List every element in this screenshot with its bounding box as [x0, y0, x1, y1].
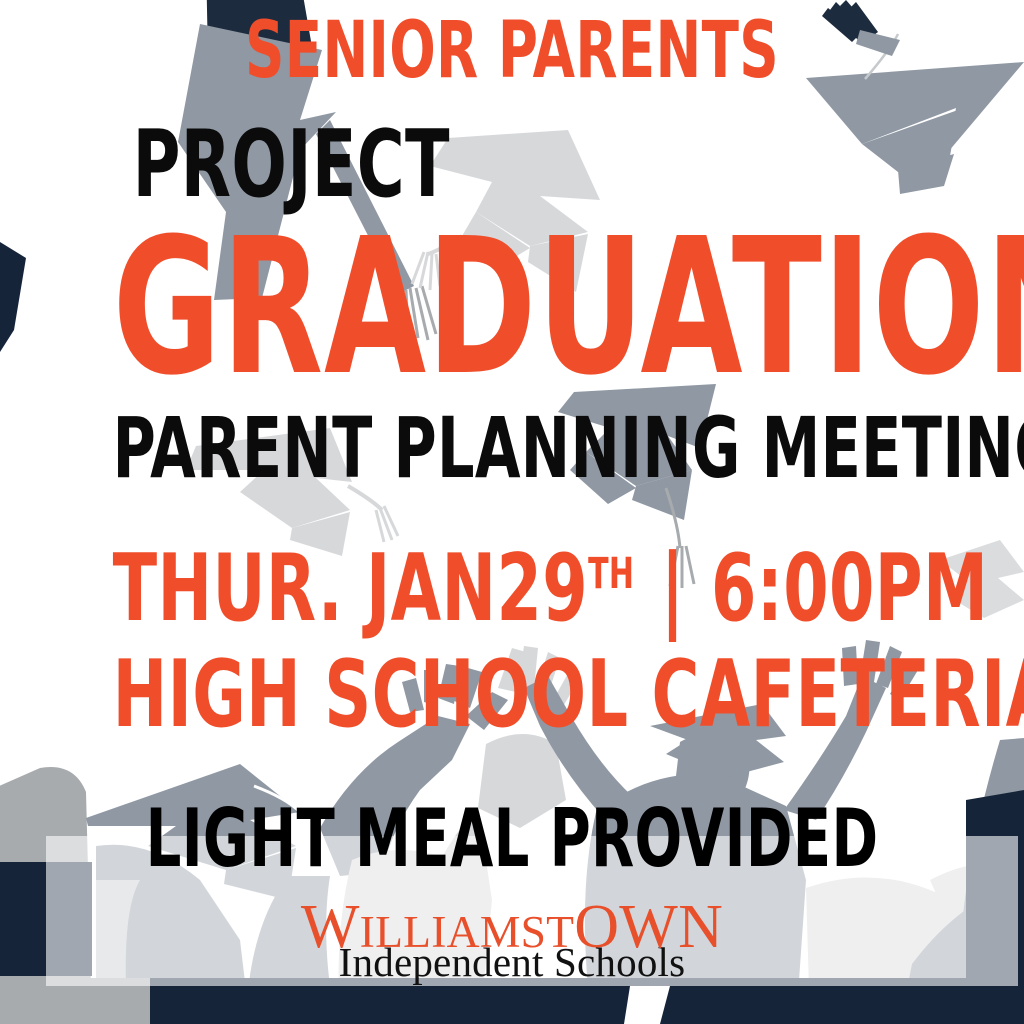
- subtitle-parent-planning-meeting: PARENT PLANNING MEETING: [113, 410, 912, 487]
- logo-illiamst: ILLIAMST: [360, 906, 575, 957]
- poster-text-layer: SENIOR PARENTS PROJECT GRADUATION PARENT…: [0, 0, 1024, 1024]
- event-datetime-line: THUR. JAN29TH | 6:00PM: [113, 546, 912, 632]
- meal-note: LIGHT MEAL PROVIDED: [113, 802, 912, 876]
- event-month: JAN: [366, 534, 496, 642]
- logo-w: W: [301, 893, 360, 961]
- event-location: HIGH SCHOOL CAFETERIA: [113, 652, 912, 738]
- event-day: THUR.: [113, 534, 343, 642]
- event-date-suffix: TH: [588, 549, 634, 599]
- logo-wordmark: WILLIAMSTOWN: [301, 896, 723, 958]
- logo-n: N: [678, 893, 723, 961]
- eyebrow-senior-parents: SENIOR PARENTS: [113, 16, 912, 88]
- event-date-number: 29: [497, 534, 589, 642]
- title-line-project: PROJECT: [113, 122, 912, 208]
- logo-ow: OW: [574, 893, 678, 961]
- school-logo: WILLIAMSTOWN Independent Schools: [0, 896, 1024, 983]
- title-line-graduation: GRADUATION: [113, 222, 912, 395]
- title-project-text: PROJECT: [133, 122, 450, 208]
- datetime-separator: |: [657, 534, 687, 642]
- poster-canvas: SENIOR PARENTS PROJECT GRADUATION PARENT…: [0, 0, 1024, 1024]
- event-time: 6:00PM: [711, 534, 988, 642]
